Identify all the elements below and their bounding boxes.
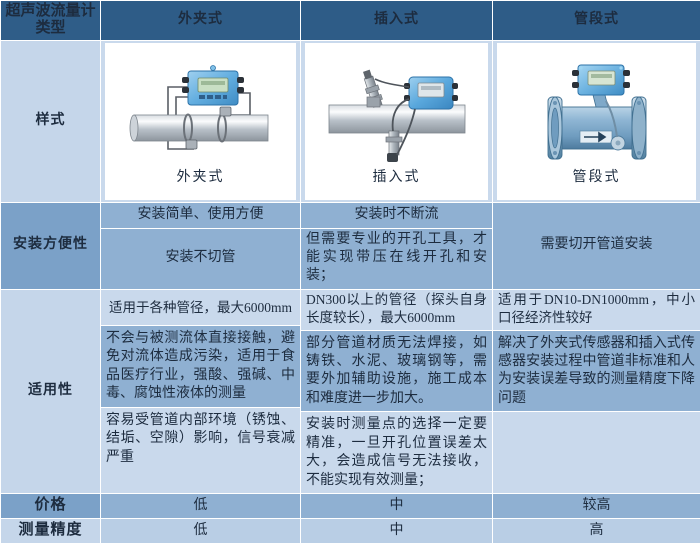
table-row-installation-convenience: 安装方便性 安装简单、使用方便 安装不切管 安装时不断流 但需要专业的开孔工具，…	[1, 202, 700, 289]
installation-cell-inline: 需要切开管道安装	[493, 202, 700, 289]
price-insertion: 中	[301, 494, 493, 519]
table-header-row: 超声波流量计 类型 外夹式 插入式 管段式	[1, 1, 700, 41]
price-clamp-on: 低	[101, 494, 301, 519]
row-label-installation-convenience: 安装方便性	[1, 202, 101, 289]
style-cell-clamp-on: 外夹式	[101, 40, 301, 202]
inline-caption: 管段式	[573, 169, 621, 187]
applicability-clamp-on-line1: 适用于各种管径，最大6000mm	[101, 290, 300, 326]
installation-clamp-on-line1: 安装简单、使用方便	[101, 203, 300, 229]
inline-image-frame: 管段式	[497, 43, 696, 200]
inline-pipe-section-ultrasonic-flowmeter-illustration	[522, 57, 672, 169]
applicability-inline-line1: 适用于DN10-DN1000mm，中小口径经济性较好	[493, 290, 700, 331]
applicability-inline-line2: 解决了外夹式传感器和插入式传感器安装过程中管道非标准和人为安装误差导致的测量精度…	[493, 331, 700, 413]
applicability-insertion-line1: DN300以上的管径（探头自身长度较长），最大6000mm	[301, 290, 492, 331]
applicability-inline-spacer	[493, 412, 700, 493]
applicability-clamp-on-line2: 不会与被测流体直接接触，避免对流体造成污染，适用于食品医疗行业，强酸、强碱、中毒…	[101, 326, 300, 408]
style-cell-inline: 管段式	[493, 40, 700, 202]
applicability-insertion-line2: 部分管道材质无法焊接，如铸铁、水泥、玻璃钢等，需要外加辅助设施，施工成本和难度进…	[301, 331, 492, 413]
insertion-caption: 插入式	[373, 169, 421, 187]
applicability-insertion-line3: 安装时测量点的选择一定要精准，一旦开孔位置误差太大，会造成信号无法接收，不能实现…	[301, 412, 492, 493]
applicability-cell-clamp-on: 适用于各种管径，最大6000mm 不会与被测流体直接接触，避免对流体造成污染，适…	[101, 289, 301, 493]
applicability-cell-inline: 适用于DN10-DN1000mm，中小口径经济性较好 解决了外夹式传感器和插入式…	[493, 289, 700, 493]
header-col-inline: 管段式	[493, 1, 700, 41]
style-cell-insertion: 插入式	[301, 40, 493, 202]
ultrasonic-flowmeter-comparison-table: 超声波流量计 类型 外夹式 插入式 管段式 样式	[0, 0, 700, 544]
clamp-on-ultrasonic-flowmeter-illustration	[126, 57, 276, 169]
table-row-style: 样式	[1, 40, 700, 202]
header-row-label-line1: 超声波流量计	[5, 3, 96, 20]
insertion-ultrasonic-flowmeter-illustration	[323, 57, 471, 169]
installation-insertion-line1: 安装时不断流	[301, 203, 492, 229]
table-row-price: 价格 低 中 较高	[1, 494, 700, 519]
row-label-price: 价格	[1, 494, 101, 519]
installation-cell-clamp-on: 安装简单、使用方便 安装不切管	[101, 202, 301, 289]
row-label-accuracy: 测量精度	[1, 519, 101, 544]
table-row-applicability: 适用性 适用于各种管径，最大6000mm 不会与被测流体直接接触，避免对流体造成…	[1, 289, 700, 493]
header-row-label: 超声波流量计 类型	[1, 1, 101, 41]
price-inline: 较高	[493, 494, 700, 519]
header-row-label-line2: 类型	[5, 20, 96, 37]
header-col-insertion: 插入式	[301, 1, 493, 41]
accuracy-inline: 高	[493, 519, 700, 544]
row-label-style: 样式	[1, 40, 101, 202]
row-label-applicability: 适用性	[1, 289, 101, 493]
applicability-cell-insertion: DN300以上的管径（探头自身长度较长），最大6000mm 部分管道材质无法焊接…	[301, 289, 493, 493]
applicability-clamp-on-line3: 容易受管道内部环境（锈蚀、结垢、空隙）影响，信号衰减严重	[101, 408, 300, 494]
insertion-image-frame: 插入式	[305, 43, 488, 200]
installation-clamp-on-line2: 安装不切管	[101, 229, 300, 289]
clamp-on-image-frame: 外夹式	[105, 43, 296, 200]
installation-insertion-line2: 但需要专业的开孔工具，才能实现带压在线开孔和安装；	[301, 229, 492, 289]
installation-cell-insertion: 安装时不断流 但需要专业的开孔工具，才能实现带压在线开孔和安装；	[301, 202, 493, 289]
header-col-clamp-on: 外夹式	[101, 1, 301, 41]
comparison-table-page: 超声波流量计 类型 外夹式 插入式 管段式 样式	[0, 0, 700, 489]
table-row-accuracy: 测量精度 低 中 高	[1, 519, 700, 544]
clamp-on-caption: 外夹式	[177, 169, 225, 187]
accuracy-insertion: 中	[301, 519, 493, 544]
accuracy-clamp-on: 低	[101, 519, 301, 544]
